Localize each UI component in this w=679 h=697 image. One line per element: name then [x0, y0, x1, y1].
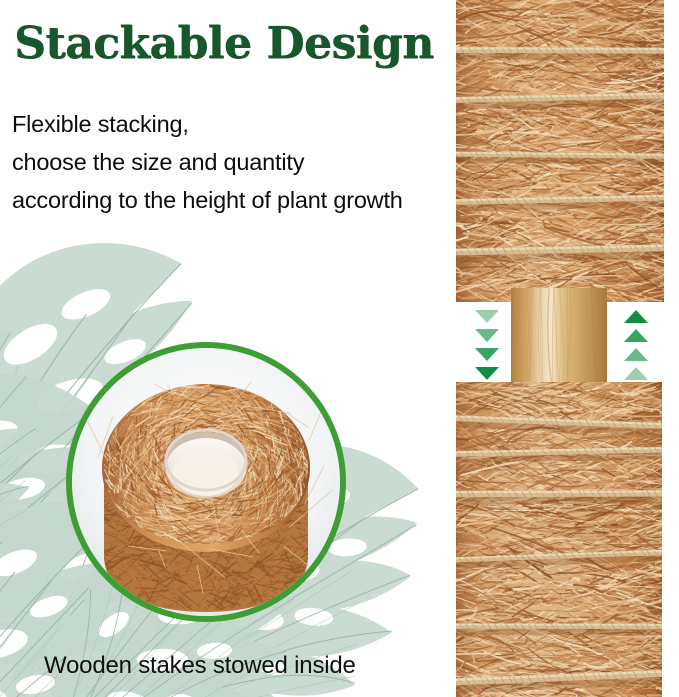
inset-caption: Wooden stakes stowed inside	[44, 652, 356, 680]
chevron-down-icon	[475, 310, 499, 323]
description-line-2: choose the size and quantity	[12, 143, 403, 181]
stack-up-arrows	[616, 306, 656, 386]
upper-coir-pole-section	[452, 0, 668, 302]
chevron-down-icon	[475, 367, 499, 380]
lower-coir-pole-section	[450, 382, 668, 697]
chevron-up-icon	[624, 348, 648, 361]
description-text: Flexible stacking, choose the size and q…	[12, 105, 403, 219]
inset-product-photo	[66, 342, 346, 622]
wooden-dowel-connector	[511, 288, 607, 392]
chevron-down-icon	[475, 329, 499, 342]
chevron-down-icon	[475, 348, 499, 361]
coir-pole-top-view	[72, 348, 340, 616]
chevron-up-icon	[624, 310, 648, 323]
chevron-up-icon	[624, 367, 648, 380]
chevron-up-icon	[624, 329, 648, 342]
product-feature-graphic: Stackable Design Flexible stacking, choo…	[0, 0, 679, 697]
description-line-3: according to the height of plant growth	[12, 181, 403, 219]
page-title: Stackable Design	[14, 18, 434, 70]
stack-down-arrows	[467, 306, 507, 386]
description-line-1: Flexible stacking,	[12, 105, 403, 143]
